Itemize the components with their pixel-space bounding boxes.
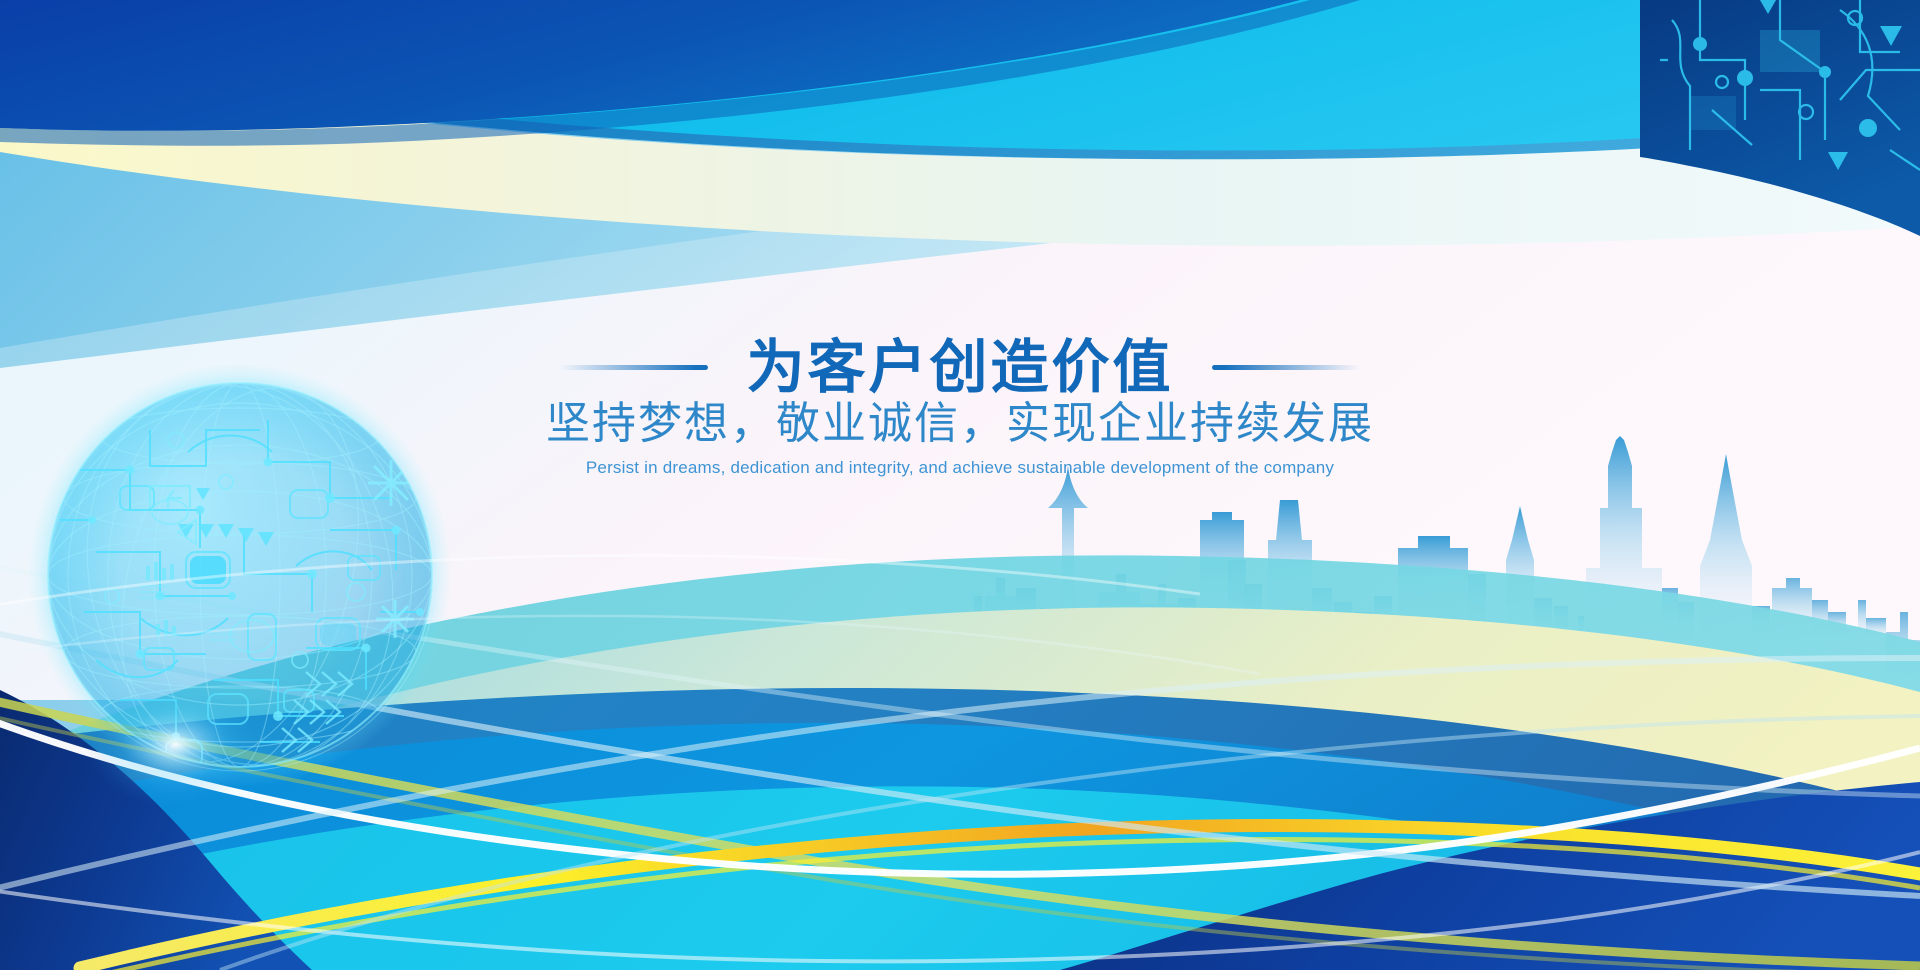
background-artwork (0, 0, 1920, 970)
banner-canvas: 为客户创造价值 坚持梦想，敬业诚信，实现企业持续发展 Persist in dr… (0, 0, 1920, 970)
globe-flare (85, 683, 265, 807)
